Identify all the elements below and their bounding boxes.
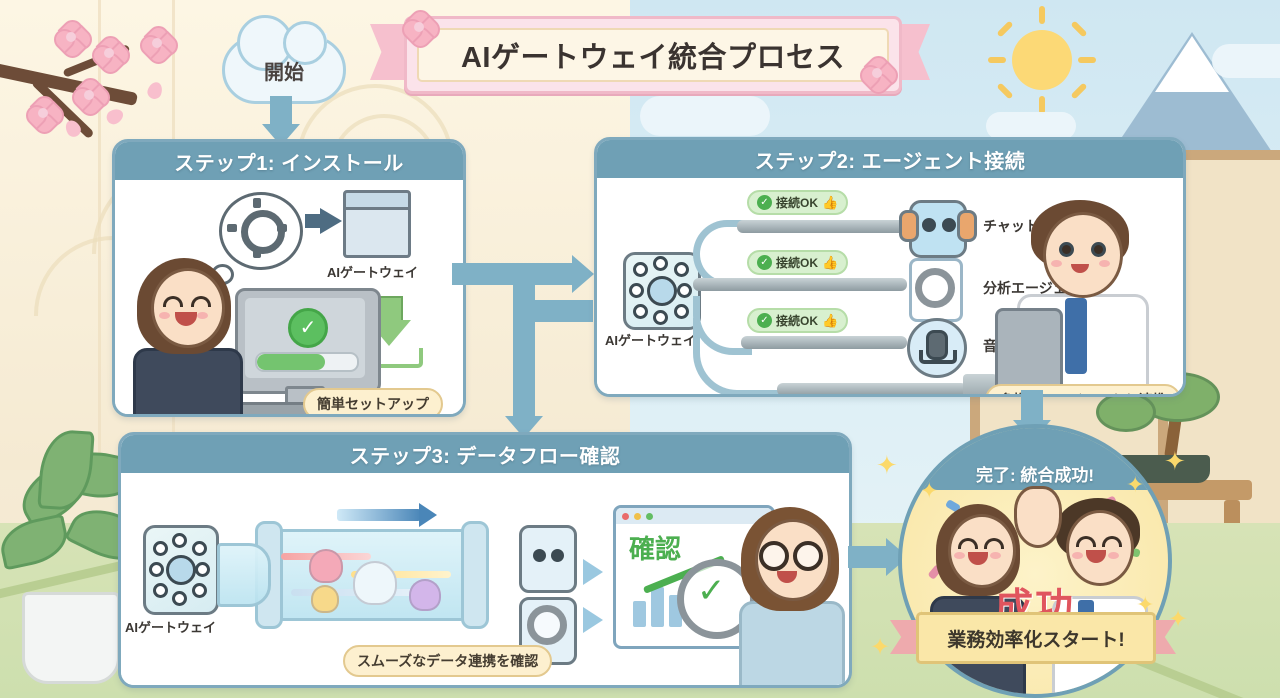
step2-title: ステップ2: エージェント接続 (755, 145, 1025, 174)
step3-body: AIゲートウェイ (121, 473, 849, 685)
man-cheek (1108, 552, 1119, 559)
tube-flow-arrow (337, 509, 421, 521)
analyst-glasses (793, 541, 823, 571)
arrow-head (419, 503, 437, 527)
sparkle-icon: ✦ (1126, 474, 1144, 496)
dashboard-label: 確認 (629, 529, 681, 566)
page-title: AIゲートウェイ統合プロセス (461, 34, 845, 76)
step1-body: AIゲートウェイ ✓ 簡単セットアップ (115, 180, 463, 414)
completion-title: 完了: 統合成功! (976, 461, 1094, 486)
sparkle-icon: ✦ (870, 636, 890, 660)
window-close-dot (622, 513, 629, 520)
ribbon-blossom (402, 10, 436, 44)
arrow-head (572, 255, 594, 293)
check-icon: ✓ (757, 255, 772, 270)
man-necktie (1065, 298, 1087, 374)
sparkle-icon: ✦ (920, 480, 938, 502)
cherry-blossom (92, 36, 126, 70)
arrow-start-to-step1 (270, 96, 292, 126)
title-ribbon: AIゲートウェイ統合プロセス (370, 16, 930, 88)
worker-cheek (197, 312, 208, 319)
infographic-canvas: AIゲートウェイ統合プロセス 開始 ステップ1: インストール (0, 0, 1280, 698)
step2-badge: 多様なエージェントと連携 (985, 384, 1181, 397)
gateway-node (192, 583, 207, 598)
sun-ray (988, 57, 1006, 63)
data-blob (311, 585, 339, 613)
arrow-head (583, 607, 603, 633)
gateway-node (192, 541, 207, 556)
chatbot-eye (922, 218, 936, 232)
gateway-node (653, 256, 668, 271)
gateway-node (653, 310, 668, 325)
progress-bar (255, 352, 359, 372)
completion-ribbon: 業務効率化スタート! (890, 612, 1176, 658)
progress-fill (257, 354, 325, 370)
gateway-label-step2: AIゲートウェイ (605, 330, 696, 349)
gateway-label-step3: AIゲートウェイ (125, 617, 216, 636)
cable-2 (693, 278, 907, 291)
gateway-hub (647, 276, 677, 306)
ribbon-inner: AIゲートウェイ統合プロセス (417, 28, 889, 82)
tube-funnel (217, 543, 271, 607)
cable-4 (777, 383, 967, 396)
man-cheek (1051, 260, 1062, 267)
chatbot-output-icon (519, 525, 577, 593)
man-eye (1059, 242, 1074, 257)
ribbon-blossom (860, 56, 894, 90)
mic-stand (919, 350, 957, 364)
sky-cloud (986, 112, 1076, 140)
window-titlebar (616, 508, 772, 524)
arrow-head (583, 559, 603, 585)
chart-bar (651, 587, 664, 627)
worker-body (133, 348, 243, 417)
step1-badge: 簡単セットアップ (303, 388, 443, 417)
thumbs-up-icon: 👍 (822, 195, 838, 211)
gateway-node (674, 262, 689, 277)
data-blob (409, 579, 441, 611)
status-badge-1: ✓ 接続OK 👍 (747, 190, 848, 215)
gateway-hub (166, 555, 196, 585)
gear-tooth (227, 224, 237, 232)
gateway-node (195, 562, 210, 577)
thumbs-up-icon: 👍 (822, 313, 838, 329)
data-blob (309, 549, 343, 583)
ribbon-body: AIゲートウェイ統合プロセス (404, 16, 902, 94)
sky-cloud (640, 96, 770, 136)
flow-arrow (305, 214, 321, 228)
status-badge-2: ✓ 接続OK 👍 (747, 250, 848, 275)
check-icon: ✓ (757, 313, 772, 328)
arrow-step3-to-complete (848, 546, 890, 568)
gateway-node (629, 283, 644, 298)
start-cloud: 開始 (222, 36, 346, 104)
window-min-dot (634, 513, 641, 520)
status-text: 接続OK (776, 312, 818, 329)
ribbon-body: 業務効率化スタート! (916, 612, 1156, 664)
start-label: 開始 (264, 56, 304, 85)
status-text: 接続OK (776, 254, 818, 271)
woman-cheek (990, 552, 1001, 559)
gateway-node (633, 304, 648, 319)
worker-cheek (159, 312, 170, 319)
step3-badge: スムーズなデータ連携を確認 (343, 645, 552, 677)
thumbs-up-icon: 👍 (822, 255, 838, 271)
man-head (1043, 212, 1123, 298)
cherry-blossom (140, 26, 174, 60)
bonsai-foliage (1096, 392, 1156, 432)
step3-panel[interactable]: ステップ3: データフロー確認 AIゲートウェイ (118, 432, 852, 688)
man-eye (1091, 242, 1106, 257)
green-check-icon: ✓ (288, 308, 328, 348)
step2-panel[interactable]: ステップ2: エージェント接続 AIゲートウェイ (594, 137, 1186, 397)
package-lid (343, 190, 411, 210)
gateway-node (677, 283, 692, 298)
cable-1 (737, 220, 907, 233)
window-max-dot (646, 513, 653, 520)
status-text: 接続OK (776, 194, 818, 211)
chart-bar (633, 601, 646, 627)
step1-panel[interactable]: ステップ1: インストール AIゲートウェイ ✓ (112, 139, 466, 417)
tablet-icon (995, 308, 1063, 394)
green-check-icon: ✓ (697, 571, 726, 611)
step3-title: ステップ3: データフロー確認 (350, 440, 621, 469)
gateway-node (172, 591, 187, 606)
man-cheek (1072, 552, 1083, 559)
magnifier-icon (527, 605, 567, 645)
chatbot-eye (551, 549, 564, 562)
gateway-node (633, 262, 648, 277)
gear-tooth (253, 248, 261, 258)
arrow-step2-to-complete (1021, 390, 1043, 424)
analyst-glasses (759, 541, 789, 571)
sparkle-icon: ✦ (876, 452, 898, 478)
completion-ribbon-text: 業務効率化スタート! (947, 625, 1124, 652)
cherry-blossom (54, 20, 88, 54)
data-blob (353, 561, 397, 605)
sky-cloud (1212, 44, 1280, 78)
arrow-to-step3 (513, 300, 535, 418)
sun-ray (1039, 6, 1045, 24)
sparkle-icon: ✦ (1164, 448, 1186, 474)
analyst-body (739, 601, 845, 688)
potted-plant (22, 592, 120, 684)
step3-header: ステップ3: データフロー確認 (121, 435, 849, 473)
sun-icon (1012, 30, 1072, 90)
high-five-hands (1014, 486, 1062, 548)
chatbot-headphone (957, 210, 977, 242)
cherry-blossom (26, 96, 60, 130)
chatbot-eye (533, 549, 546, 562)
chatbot-eye (942, 218, 956, 232)
check-icon: ✓ (757, 195, 772, 210)
woman-cheek (954, 552, 965, 559)
tube-ring-right (461, 521, 489, 629)
status-badge-3: ✓ 接続OK 👍 (747, 308, 848, 333)
magnifier-icon (915, 268, 955, 308)
gateway-node (172, 533, 187, 548)
step1-header: ステップ1: インストール (115, 142, 463, 180)
gear-icon (241, 210, 285, 254)
gateway-node (674, 304, 689, 319)
chatbot-headphone (899, 210, 919, 242)
gear-tooth (277, 224, 287, 232)
gateway-node (153, 583, 168, 598)
step2-header: ステップ2: エージェント接続 (597, 140, 1183, 178)
step1-title: ステップ1: インストール (174, 147, 403, 176)
step2-body: AIゲートウェイ ✓ 接続OK 👍 ✓ 接続OK 👍 ✓ (597, 178, 1183, 394)
gear-tooth (253, 198, 261, 208)
gateway-node (149, 562, 164, 577)
worker-head (151, 268, 225, 348)
gateway-label-step1: AIゲートウェイ (327, 262, 418, 281)
gateway-node (153, 541, 168, 556)
man-head (1066, 510, 1134, 586)
cherry-blossom (72, 78, 106, 112)
arrow-head (320, 208, 342, 234)
man-cheek (1099, 260, 1110, 267)
